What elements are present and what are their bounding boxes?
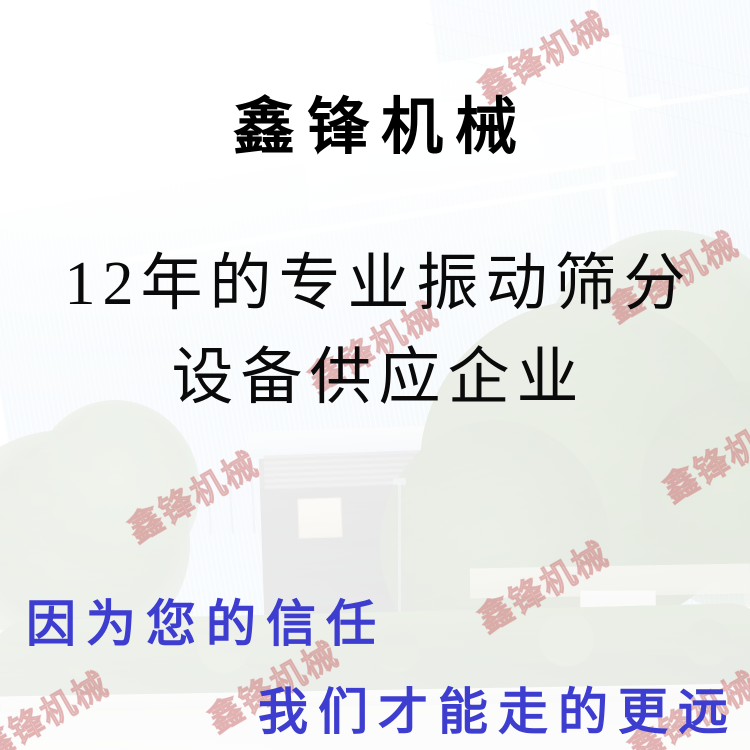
tagline-line-1: 12年的专业振动筛分 (0, 232, 750, 322)
promo-banner: 鑫锋机械鑫锋机械鑫锋机械鑫锋机械鑫锋机械鑫锋机械鑫锋机械鑫锋机械鑫锋机械 鑫锋机… (0, 0, 750, 750)
brand-title: 鑫锋机械 (0, 76, 750, 166)
tagline-line-2: 设备供应企业 (0, 326, 750, 416)
slogan-line-1: 因为您的信任 (26, 584, 386, 656)
slogan-line-2: 我们才能走的更远 (258, 672, 738, 744)
